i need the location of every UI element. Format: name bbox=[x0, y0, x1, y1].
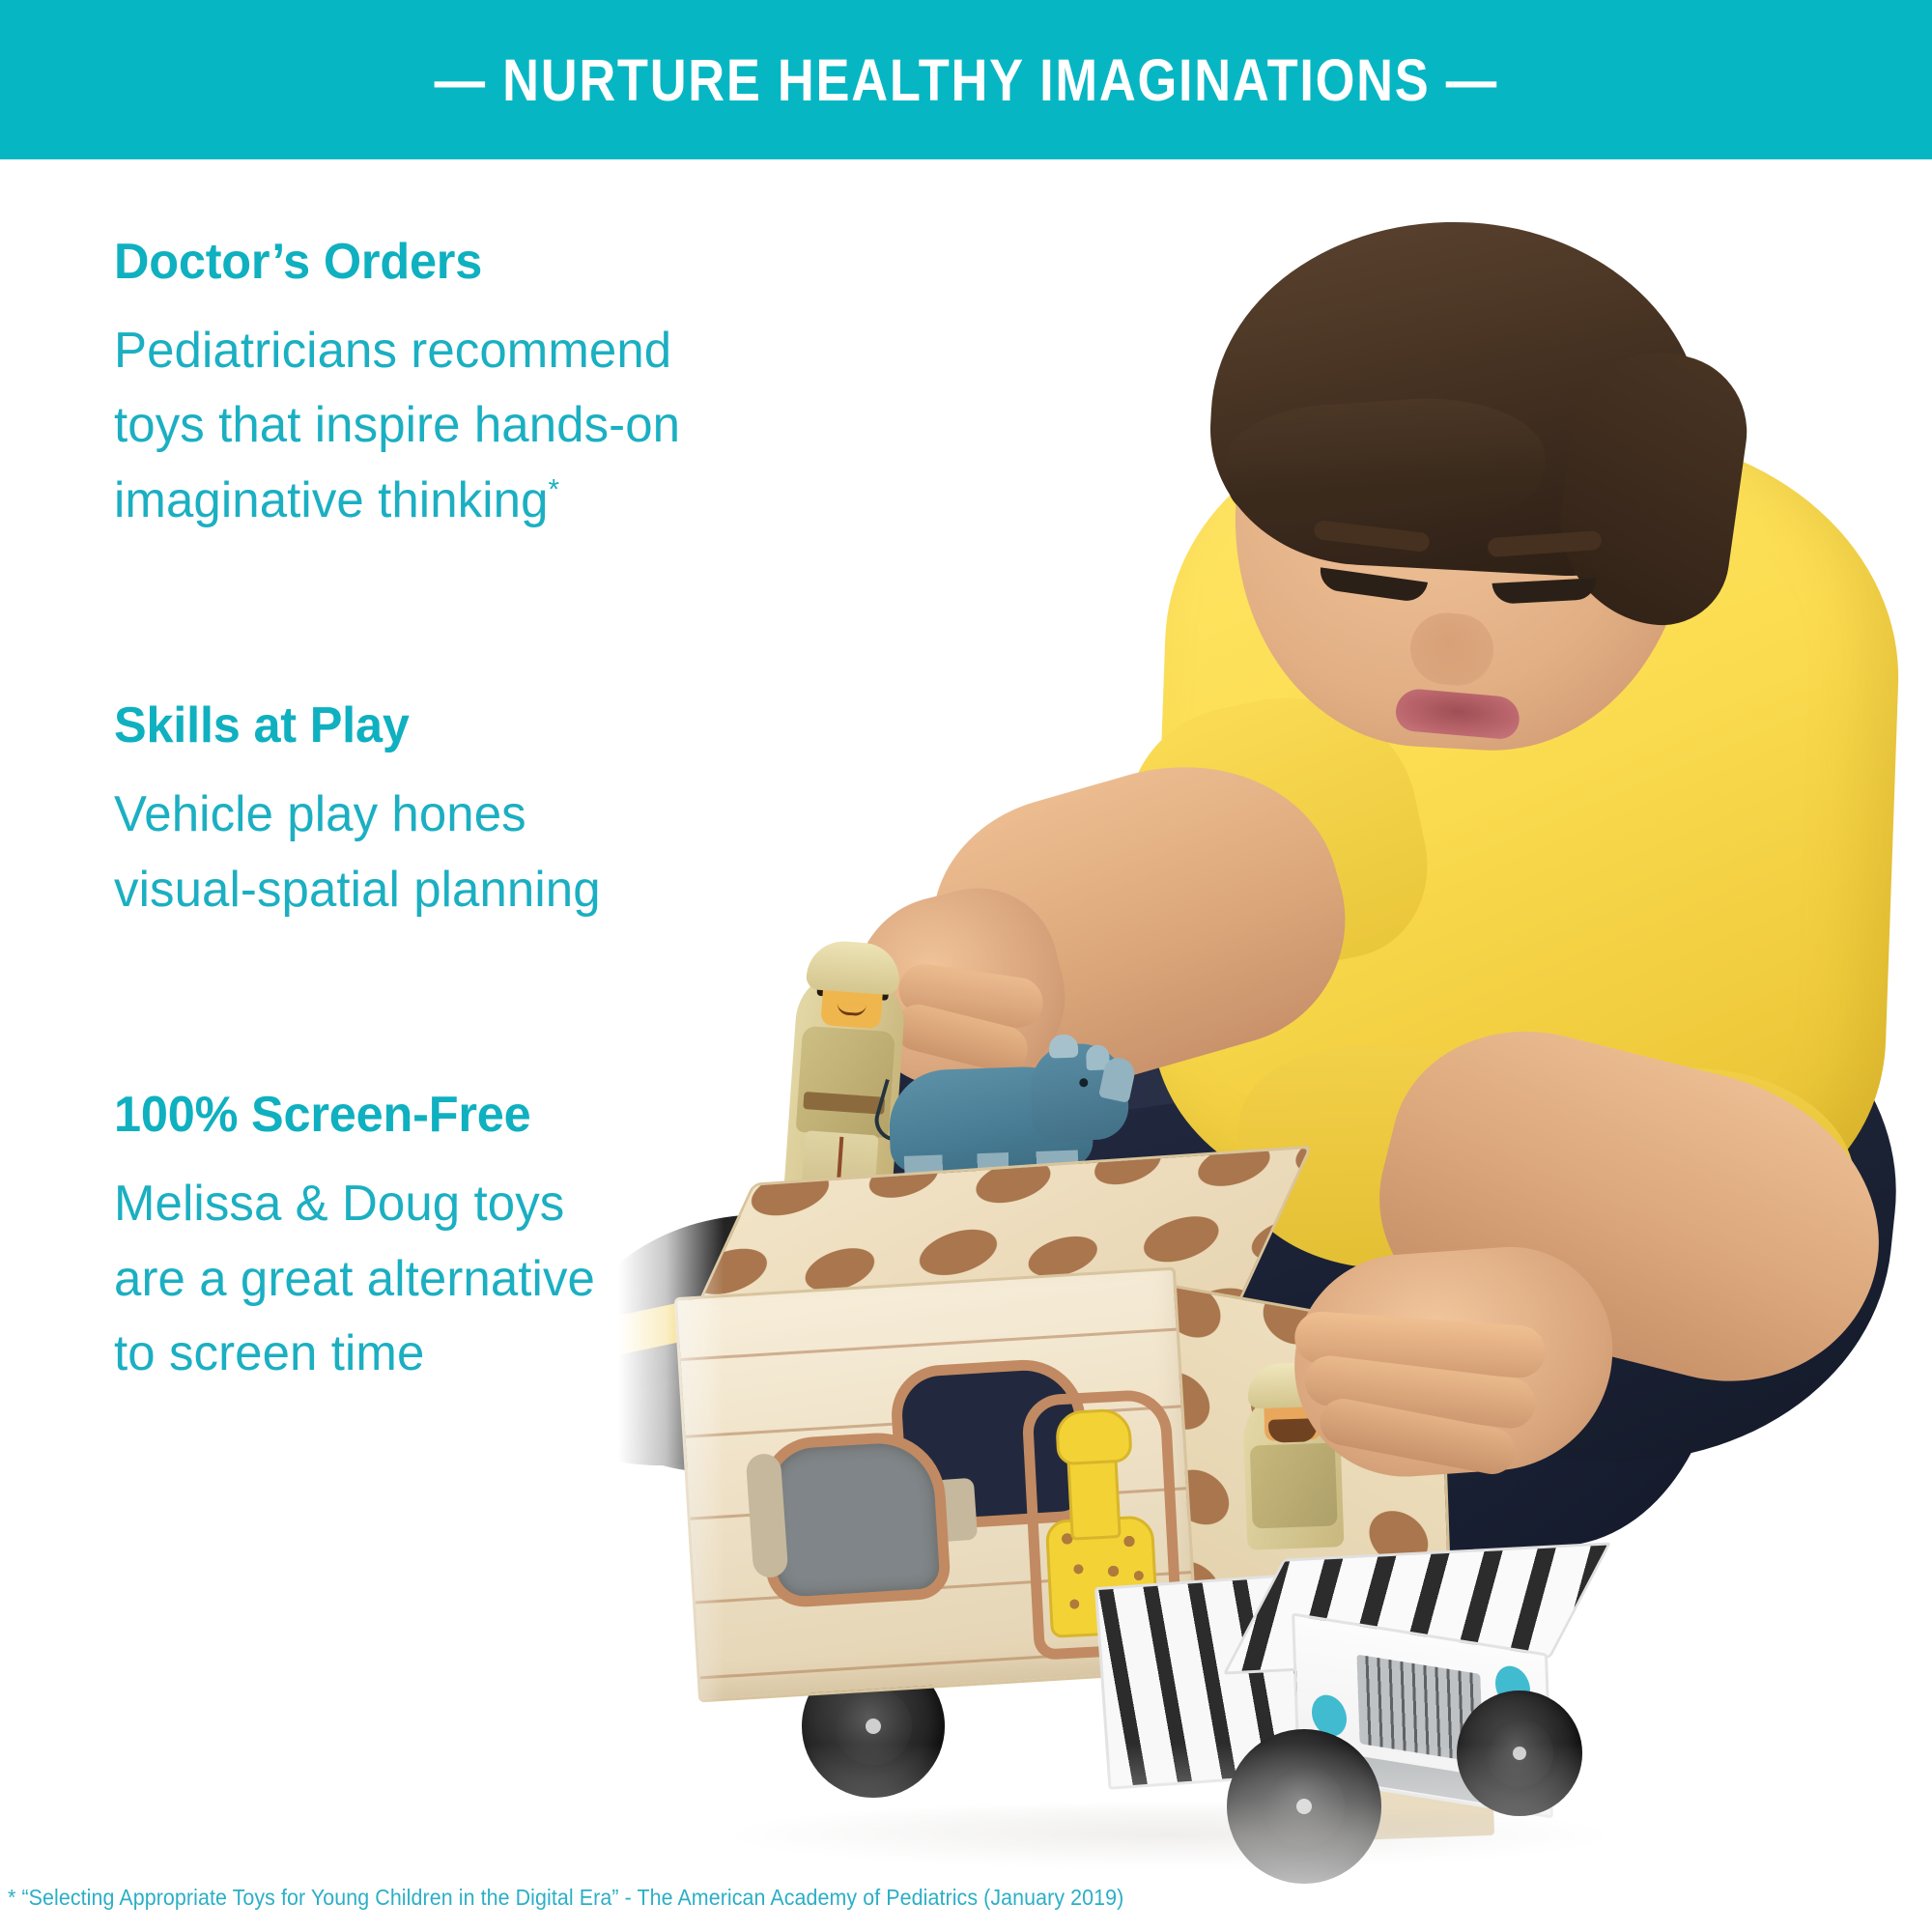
feature-body-line: are a great alternative bbox=[114, 1242, 862, 1317]
feature-body: Vehicle play hones visual-spatial planni… bbox=[114, 778, 862, 927]
feature-body-line: Vehicle play hones bbox=[114, 778, 862, 852]
feature-body-line: Pediatricians recommend bbox=[114, 314, 862, 388]
footnote-citation: * “Selecting Appropriate Toys for Young … bbox=[8, 1885, 1123, 1911]
feature-body-line: visual-spatial planning bbox=[114, 853, 862, 927]
elephant-shape-cutout bbox=[758, 1429, 952, 1608]
feature-body-line: to screen time bbox=[114, 1317, 862, 1391]
feature-heading: 100% Screen-Free bbox=[114, 1090, 854, 1140]
feature-body-text: imaginative thinking bbox=[114, 472, 549, 528]
feature-body-line: Melissa & Doug toys bbox=[114, 1167, 862, 1241]
wheel-pin bbox=[866, 1719, 881, 1734]
feature-block-screen-free: 100% Screen-Free Melissa & Doug toys are… bbox=[114, 1090, 877, 1391]
ranger2-coat bbox=[1250, 1442, 1338, 1528]
feature-block-doctors-orders: Doctor’s Orders Pediatricians recommend … bbox=[114, 237, 877, 538]
feature-body: Pediatricians recommend toys that inspir… bbox=[114, 314, 862, 538]
feature-body-line: toys that inspire hands-on bbox=[114, 388, 862, 463]
feature-block-skills-at-play: Skills at Play Vehicle play hones visual… bbox=[114, 700, 877, 927]
feature-heading: Skills at Play bbox=[114, 700, 854, 751]
giraffe-head bbox=[1055, 1407, 1133, 1465]
banner-title: — NURTURE HEALTHY IMAGINATIONS — bbox=[434, 46, 1497, 114]
footnote-marker: * bbox=[549, 474, 560, 506]
rhino-ear bbox=[1049, 1034, 1079, 1058]
feature-body-line: imaginative thinking* bbox=[114, 464, 862, 538]
feature-body: Melissa & Doug toys are a great alternat… bbox=[114, 1167, 862, 1391]
header-banner: — NURTURE HEALTHY IMAGINATIONS — bbox=[0, 0, 1932, 159]
feature-list: Doctor’s Orders Pediatricians recommend … bbox=[114, 237, 877, 1392]
feature-heading: Doctor’s Orders bbox=[114, 237, 854, 287]
